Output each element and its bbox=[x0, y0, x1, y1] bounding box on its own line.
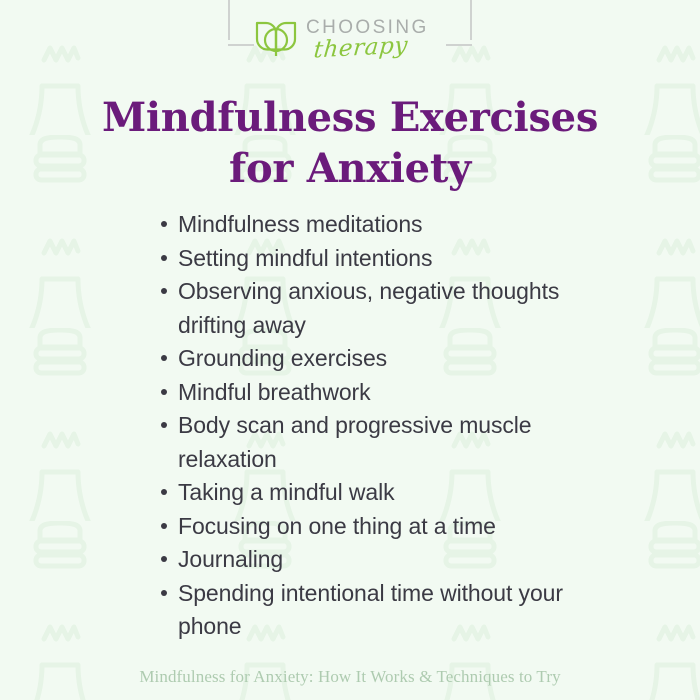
bullet-icon bbox=[161, 556, 167, 562]
list-item: Spending intentional time without your p… bbox=[160, 577, 580, 644]
list-item-label: Taking a mindful walk bbox=[178, 479, 395, 505]
bullet-icon bbox=[161, 389, 167, 395]
leaf-trio-icon bbox=[254, 17, 298, 59]
list-item-label: Mindful breathwork bbox=[178, 379, 371, 405]
list-item: Journaling bbox=[160, 543, 580, 577]
list-item: Grounding exercises bbox=[160, 342, 580, 376]
list-item-label: Observing anxious, negative thoughts dri… bbox=[178, 278, 559, 338]
bullet-icon bbox=[161, 422, 167, 428]
bullet-icon bbox=[161, 523, 167, 529]
list-item-label: Setting mindful intentions bbox=[178, 245, 432, 271]
list-item-label: Body scan and progressive muscle relaxat… bbox=[178, 412, 531, 472]
list-item: Observing anxious, negative thoughts dri… bbox=[160, 275, 580, 342]
list-item: Mindful breathwork bbox=[160, 376, 580, 410]
brand-name-script: therapy bbox=[313, 33, 409, 64]
list-item-label: Spending intentional time without your p… bbox=[178, 580, 563, 640]
bullet-icon bbox=[161, 590, 167, 596]
list-item: Taking a mindful walk bbox=[160, 476, 580, 510]
list-item-label: Mindfulness meditations bbox=[178, 211, 422, 237]
poster-canvas: CHOOSING therapy Mindfulness Exercises f… bbox=[0, 0, 700, 700]
footer-caption: Mindfulness for Anxiety: How It Works & … bbox=[0, 667, 700, 687]
list-item-label: Journaling bbox=[178, 546, 283, 572]
bullet-icon bbox=[161, 355, 167, 361]
bullet-icon bbox=[161, 288, 167, 294]
bullet-icon bbox=[161, 255, 167, 261]
page-title: Mindfulness Exercises for Anxiety bbox=[0, 92, 700, 194]
bullet-icon bbox=[161, 221, 167, 227]
list-item: Focusing on one thing at a time bbox=[160, 510, 580, 544]
list-item-label: Focusing on one thing at a time bbox=[178, 513, 496, 539]
list-item: Mindfulness meditations bbox=[160, 208, 580, 242]
list-item-label: Grounding exercises bbox=[178, 345, 387, 371]
exercise-list: Mindfulness meditations Setting mindful … bbox=[160, 208, 580, 644]
list-item: Body scan and progressive muscle relaxat… bbox=[160, 409, 580, 476]
brand-logo: CHOOSING therapy bbox=[0, 14, 700, 62]
list-item: Setting mindful intentions bbox=[160, 242, 580, 276]
page-title-line-1: Mindfulness Exercises bbox=[102, 94, 598, 141]
brand-wordmark: CHOOSING therapy bbox=[306, 15, 446, 61]
page-title-line-2: for Anxiety bbox=[229, 145, 471, 192]
bullet-icon bbox=[161, 489, 167, 495]
